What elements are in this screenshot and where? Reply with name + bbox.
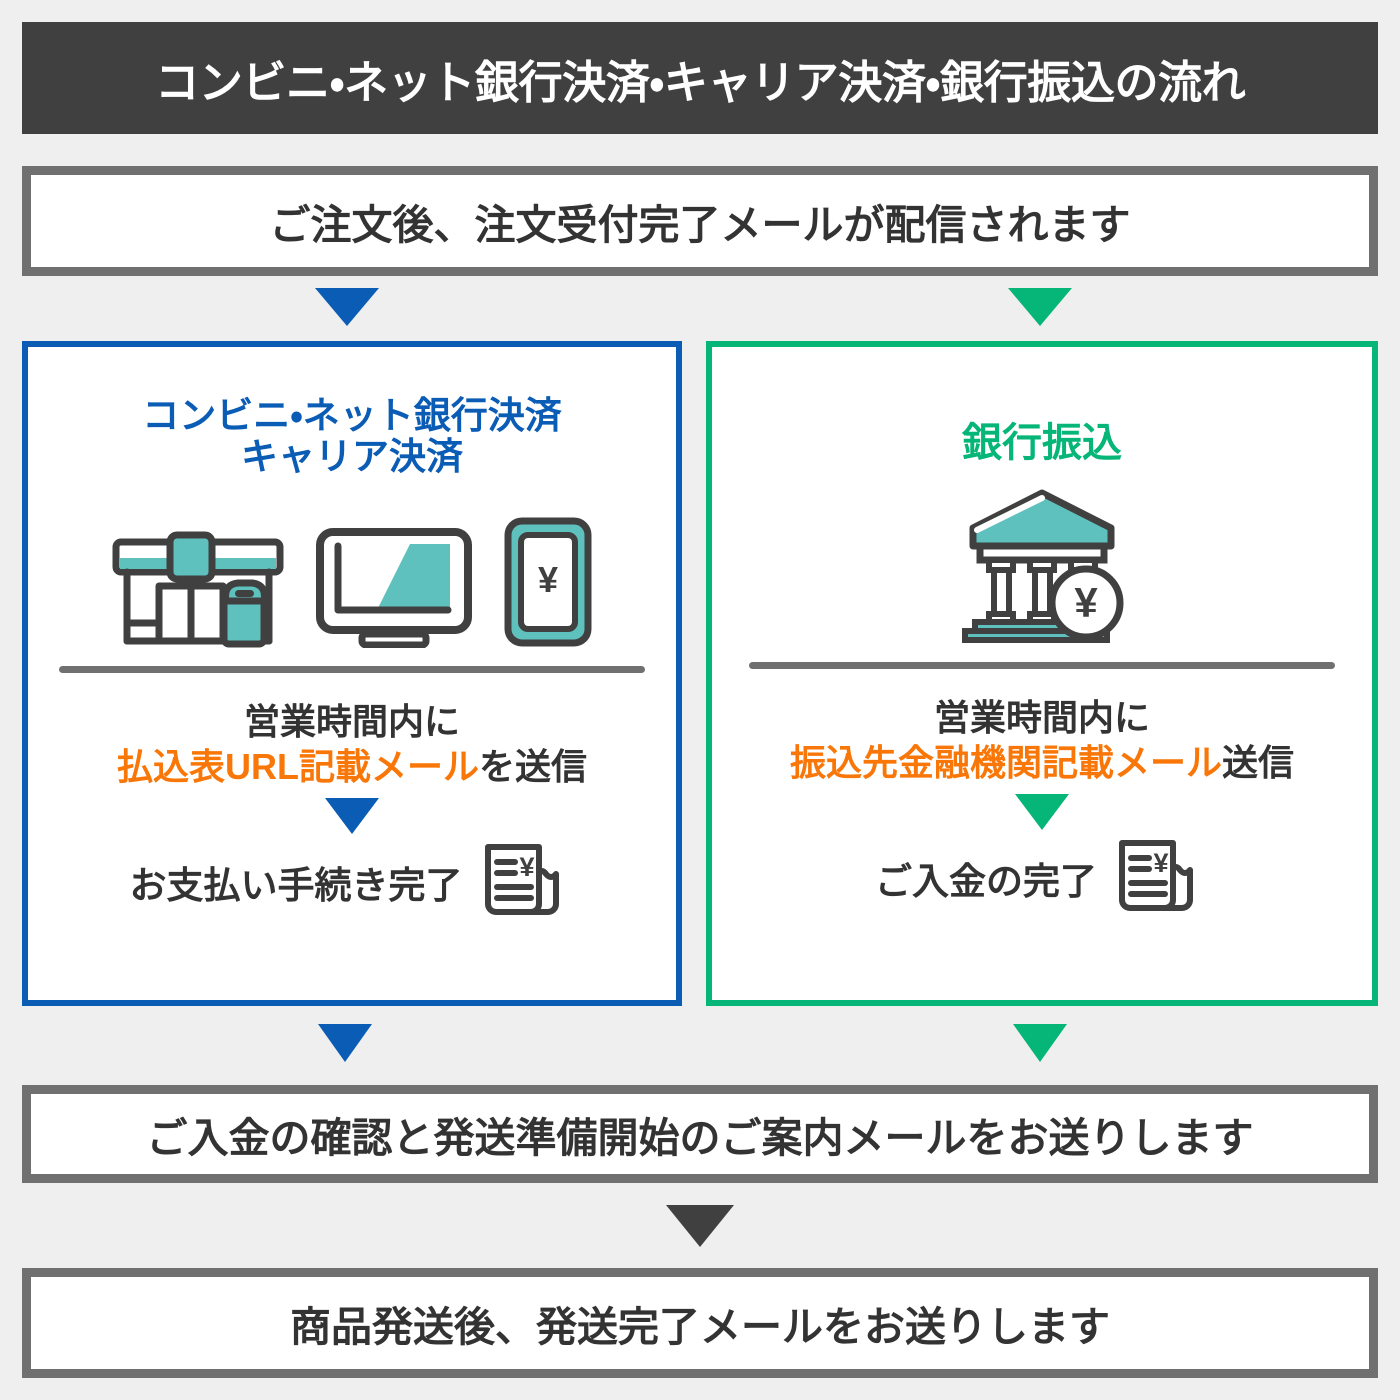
bank-yen-icon: ¥ (947, 484, 1137, 644)
konbini-icon-row: ¥ (28, 498, 676, 648)
arrow-down-from-furikomi-icon (1013, 1024, 1067, 1062)
konbini-inner-arrow-wrap (28, 798, 676, 834)
arrow-down-to-shipped-icon (666, 1205, 734, 1247)
step-shipped-label: 商品発送後、発送完了メールをお送りします (290, 1293, 1110, 1353)
furikomi-notice-line2: 振込先金融機関記載メール送信 (712, 740, 1372, 785)
furikomi-notice-highlight: 振込先金融機関記載メール (790, 742, 1222, 783)
step-order-confirmation-label: ご注文後、注文受付完了メールが配信されます (270, 191, 1131, 251)
konbini-notice-highlight: 払込表URL記載メール (117, 746, 479, 787)
method-title-konbini-line1: コンビニ・ネット銀行決済 (28, 395, 676, 436)
furikomi-notice-line1: 営業時間内に (712, 695, 1372, 740)
invoice-yen-icon: ¥ (1109, 832, 1209, 924)
furikomi-inner-arrow-wrap (712, 794, 1372, 830)
konbini-divider (59, 666, 645, 673)
konbini-notice-suffix: を送信 (479, 746, 587, 787)
method-panel-furikomi: 銀行振込 (706, 341, 1378, 1006)
svg-text:¥: ¥ (519, 852, 534, 882)
step-payment-confirmed-label: ご入金の確認と発送準備開始のご案内メールをお送りします (147, 1104, 1254, 1164)
desktop-monitor-icon (314, 526, 474, 648)
diagram-header-bar: コンビニ・ネット銀行決済・キャリア決済・銀行振込の流れ (22, 22, 1378, 134)
arrow-down-konbini-inner-icon (325, 798, 379, 834)
svg-text:¥: ¥ (1074, 579, 1098, 626)
furikomi-icon-row: ¥ (712, 494, 1372, 644)
konbini-notice-line2: 払込表URL記載メールを送信 (28, 744, 676, 789)
convenience-store-icon (108, 528, 288, 648)
furikomi-divider (749, 662, 1335, 669)
arrow-down-to-furikomi-icon (1008, 288, 1072, 326)
konbini-final-label: お支払い手続き完了 (130, 855, 463, 909)
konbini-final-row: お支払い手続き完了 ¥ (28, 836, 676, 928)
konbini-notice-line1: 営業時間内に (28, 699, 676, 744)
arrow-down-furikomi-inner-icon (1015, 794, 1069, 830)
payment-flow-diagram: コンビニ・ネット銀行決済・キャリア決済・銀行振込の流れ ご注文後、注文受付完了メ… (0, 0, 1400, 1400)
svg-text:¥: ¥ (538, 559, 558, 600)
furikomi-final-row: ご入金の完了 ¥ (712, 832, 1372, 924)
page-title: コンビニ・ネット銀行決済・キャリア決済・銀行振込の流れ (155, 46, 1245, 111)
furikomi-notice-suffix: 送信 (1222, 742, 1294, 783)
invoice-yen-icon: ¥ (475, 836, 575, 928)
step-order-confirmation-box: ご注文後、注文受付完了メールが配信されます (22, 166, 1378, 276)
method-panel-konbini: コンビニ・ネット銀行決済 キャリア決済 (22, 341, 682, 1006)
arrow-down-to-konbini-icon (315, 288, 379, 326)
smartphone-yen-icon: ¥ (500, 516, 596, 648)
method-title-furikomi-line1: 銀行振込 (712, 421, 1372, 466)
step-shipped-box: 商品発送後、発送完了メールをお送りします (22, 1268, 1378, 1378)
method-title-konbini-line2: キャリア決済 (28, 436, 676, 477)
furikomi-final-label: ご入金の完了 (875, 851, 1097, 905)
svg-text:¥: ¥ (1153, 848, 1168, 878)
furikomi-notice-text: 営業時間内に 振込先金融機関記載メール送信 (712, 695, 1372, 786)
step-payment-confirmed-box: ご入金の確認と発送準備開始のご案内メールをお送りします (22, 1085, 1378, 1183)
konbini-notice-text: 営業時間内に 払込表URL記載メールを送信 (28, 699, 676, 790)
arrow-down-from-konbini-icon (318, 1024, 372, 1062)
method-title-furikomi: 銀行振込 (712, 421, 1372, 466)
method-title-konbini: コンビニ・ネット銀行決済 キャリア決済 (28, 395, 676, 478)
